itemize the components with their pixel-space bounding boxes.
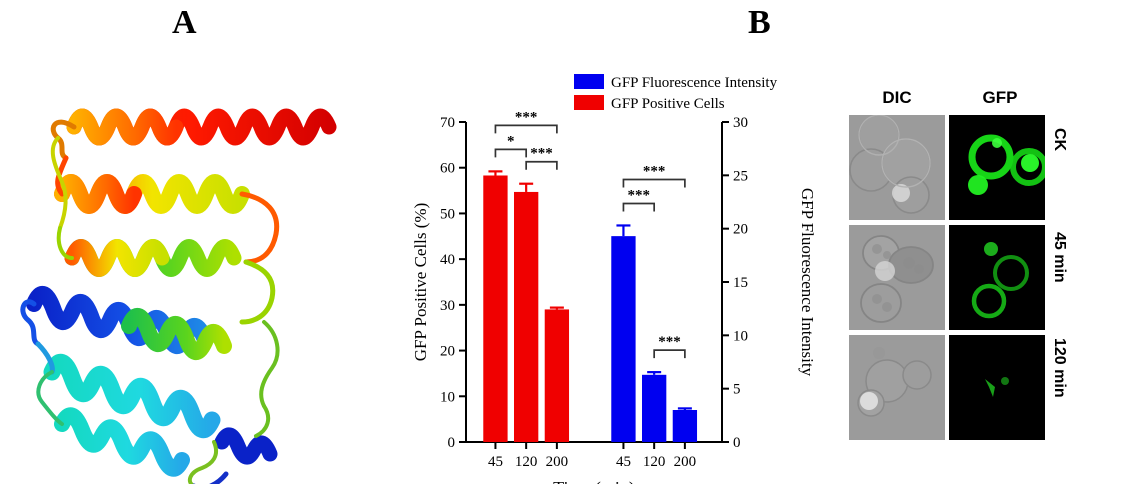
micrograph-gfp-120min: 2 µm [949, 335, 1045, 440]
bracket-line [495, 125, 556, 133]
error-bar-left-45 [488, 171, 502, 175]
x-tick-label: 45 [488, 454, 503, 470]
y-tick-label-right: 15 [733, 275, 748, 291]
bracket-line [526, 162, 557, 170]
legend-label-1: GFP Positive Cells [611, 96, 725, 112]
y-tick-label-right: 5 [733, 382, 741, 398]
y-axis-title-right: GFP Fluorescence Intensity [798, 188, 817, 377]
bar-left-120 [514, 192, 538, 442]
significance-label: *** [530, 146, 553, 162]
bar-right-120 [642, 375, 666, 442]
y-tick-label-left: 60 [440, 161, 455, 177]
helix-orange-yellow [62, 182, 242, 206]
bracket-line [495, 149, 526, 157]
y-tick-label-left: 10 [440, 389, 455, 405]
legend-swatch-1 [574, 95, 604, 110]
micrograph-dic-ck [849, 115, 945, 220]
significance-bracket-blue-4: *** [623, 187, 654, 211]
micrograph-panel: DIC GFP [845, 80, 1121, 460]
bar-left-45 [483, 175, 507, 442]
legend-swatch-0 [574, 74, 604, 89]
significance-bracket-red-1: * [495, 133, 526, 157]
figure-canvas: A B [0, 0, 1121, 484]
micrograph-dic-120min [849, 335, 945, 440]
legend-label-0: GFP Fluorescence Intensity [611, 75, 778, 91]
y-tick-label-left: 20 [440, 344, 455, 360]
protein-structure-panel [14, 72, 404, 484]
micrograph-gfp-ck [949, 115, 1045, 220]
y-tick-label-right: 20 [733, 222, 748, 238]
gfp-bar-chart: 0102030405060700510152025304512020045120… [404, 60, 824, 484]
gfp-image-120min [949, 335, 1045, 440]
significance-bracket-red-2: *** [526, 146, 557, 170]
significance-label: *** [628, 187, 651, 203]
helix-blue-green [34, 294, 224, 352]
protein-ribbon-diagram [14, 72, 404, 484]
dic-image-45min [849, 225, 945, 330]
row-label-120min: 120 min [1050, 338, 1067, 398]
row-label-45min: 45 min [1050, 232, 1067, 283]
panel-label-a: A [172, 6, 197, 40]
bar-chart-panel: 0102030405060700510152025304512020045120… [404, 60, 824, 484]
y-tick-label-right: 10 [733, 328, 748, 344]
gfp-image-ck [949, 115, 1045, 220]
x-tick-label: 200 [674, 454, 697, 470]
column-header-gfp: GFP [952, 88, 1048, 108]
y-tick-label-right: 0 [733, 435, 741, 451]
significance-label: *** [515, 109, 538, 125]
micrograph-gfp-45min [949, 225, 1045, 330]
y-tick-label-left: 50 [440, 206, 455, 222]
helix-blue-small [222, 435, 270, 457]
bracket-line [654, 350, 685, 358]
significance-label: *** [643, 163, 666, 179]
y-tick-label-left: 30 [440, 298, 455, 314]
column-header-dic: DIC [849, 88, 945, 108]
panel-label-b: B [748, 6, 771, 40]
micrograph-dic-45min [849, 225, 945, 330]
x-tick-label: 200 [546, 454, 569, 470]
error-bar-left-120 [519, 184, 533, 192]
y-tick-label-left: 70 [440, 115, 455, 131]
y-tick-label-right: 30 [733, 115, 748, 131]
dic-image-ck [849, 115, 945, 220]
helix-red [74, 116, 329, 138]
error-bar-right-200 [678, 408, 692, 410]
bracket-line [623, 179, 684, 187]
error-bar-left-200 [550, 308, 564, 310]
row-label-ck: CK [1050, 128, 1067, 151]
bar-right-200 [673, 410, 697, 442]
significance-bracket-red-0: *** [495, 109, 556, 133]
y-tick-label-right: 25 [733, 168, 748, 184]
x-tick-label: 45 [616, 454, 631, 470]
significance-label: * [507, 133, 515, 149]
dic-image-120min [849, 335, 945, 440]
bracket-line [623, 203, 654, 211]
y-axis-title-left: GFP Positive Cells (%) [411, 203, 430, 362]
bar-left-200 [545, 309, 569, 442]
y-tick-label-left: 40 [440, 252, 455, 268]
significance-label: *** [658, 334, 681, 350]
gfp-image-45min [949, 225, 1045, 330]
x-tick-label: 120 [643, 454, 666, 470]
chart-legend: GFP Fluorescence IntensityGFP Positive C… [574, 74, 778, 112]
error-bar-right-45 [616, 225, 630, 236]
y-tick-label-left: 0 [448, 435, 456, 451]
bar-right-45 [611, 236, 635, 442]
error-bar-right-120 [647, 372, 661, 375]
x-axis-title: Time (min) [553, 478, 635, 484]
significance-bracket-blue-3: *** [623, 163, 684, 187]
helix-orange-green [72, 247, 234, 270]
x-tick-label: 120 [515, 454, 538, 470]
significance-bracket-blue-5: *** [654, 334, 685, 358]
